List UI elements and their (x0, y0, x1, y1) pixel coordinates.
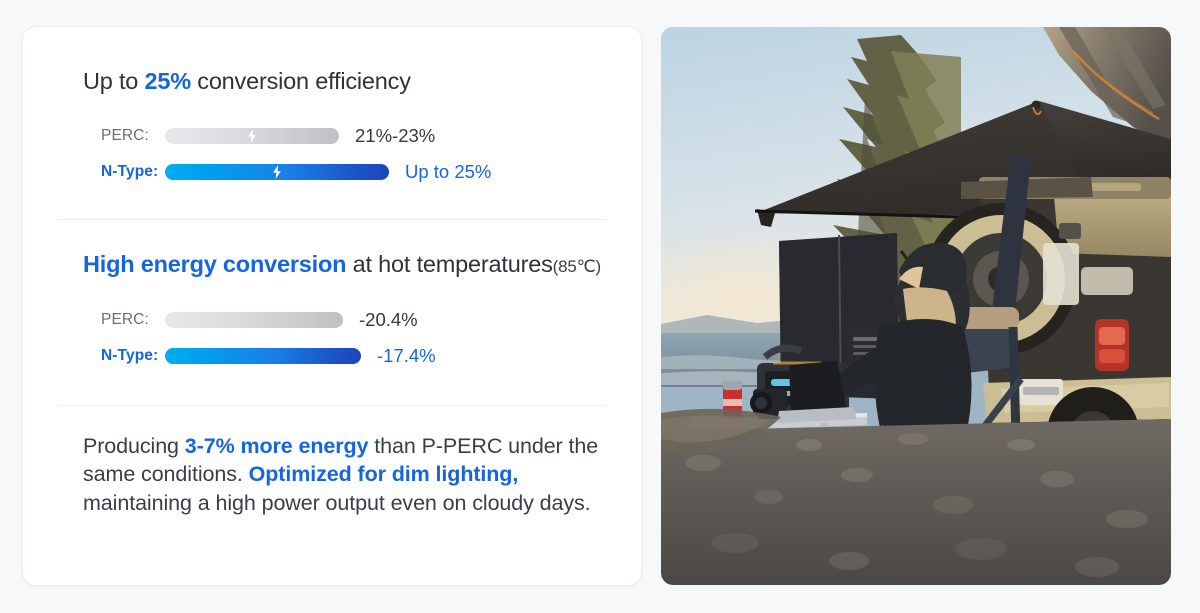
summary-paragraph: Producing 3-7% more energy than P-PERC u… (83, 432, 631, 518)
section-1-heading: Up to 25% conversion efficiency (83, 67, 607, 96)
bar-perc-hot (165, 312, 343, 328)
metric-row-ntype-efficiency: N-Type: Up to 25% (57, 154, 607, 190)
campsite-photo-illustration (661, 27, 1171, 585)
paragraph-highlight-2: Optimized for dim lighting, (249, 462, 519, 486)
heading-highlight: 25% (145, 68, 191, 94)
row-value-ntype-hot: -17.4% (377, 345, 436, 367)
paragraph-part-1: Producing (83, 434, 185, 458)
divider-2 (57, 405, 607, 406)
metric-row-perc-efficiency: PERC: 21%-23% (57, 118, 607, 154)
bolt-icon (247, 129, 257, 143)
metric-row-ntype-hot: N-Type: -17.4% (57, 338, 607, 374)
heading-note: (85℃) (553, 257, 601, 276)
heading-suffix: conversion efficiency (191, 68, 411, 94)
section-2-rows: PERC: -20.4% N-Type: -17.4% (57, 302, 607, 374)
bar-ntype-hot (165, 348, 361, 364)
section-2-heading: High energy conversion at hot temperatur… (83, 250, 607, 279)
metric-row-perc-hot: PERC: -20.4% (57, 302, 607, 338)
campsite-photo (661, 27, 1171, 585)
bar-perc-efficiency (165, 128, 339, 144)
bar-ntype-efficiency (165, 164, 389, 180)
section-hot-temperature: High energy conversion at hot temperatur… (57, 250, 607, 373)
row-label-perc: PERC: (57, 311, 165, 329)
page-root: Up to 25% conversion efficiency PERC: 21… (0, 0, 1200, 613)
row-value-perc-efficiency: 21%-23% (355, 125, 435, 147)
row-label-ntype: N-Type: (57, 347, 165, 365)
heading-highlight: High energy conversion (83, 251, 346, 277)
section-1-rows: PERC: 21%-23% N-Type: Up (57, 118, 607, 190)
row-value-perc-hot: -20.4% (359, 309, 418, 331)
row-label-ntype: N-Type: (57, 163, 165, 181)
section-conversion-efficiency: Up to 25% conversion efficiency PERC: 21… (57, 67, 607, 190)
divider-1 (57, 219, 607, 220)
paragraph-part-3: maintaining a high power output even on … (83, 491, 591, 515)
row-label-perc: PERC: (57, 127, 165, 145)
heading-suffix: at hot temperatures (346, 251, 552, 277)
row-value-ntype-efficiency: Up to 25% (405, 161, 491, 183)
bolt-icon (272, 165, 282, 179)
spec-card: Up to 25% conversion efficiency PERC: 21… (22, 26, 642, 586)
paragraph-highlight-1: 3-7% more energy (185, 434, 369, 458)
heading-prefix: Up to (83, 68, 145, 94)
